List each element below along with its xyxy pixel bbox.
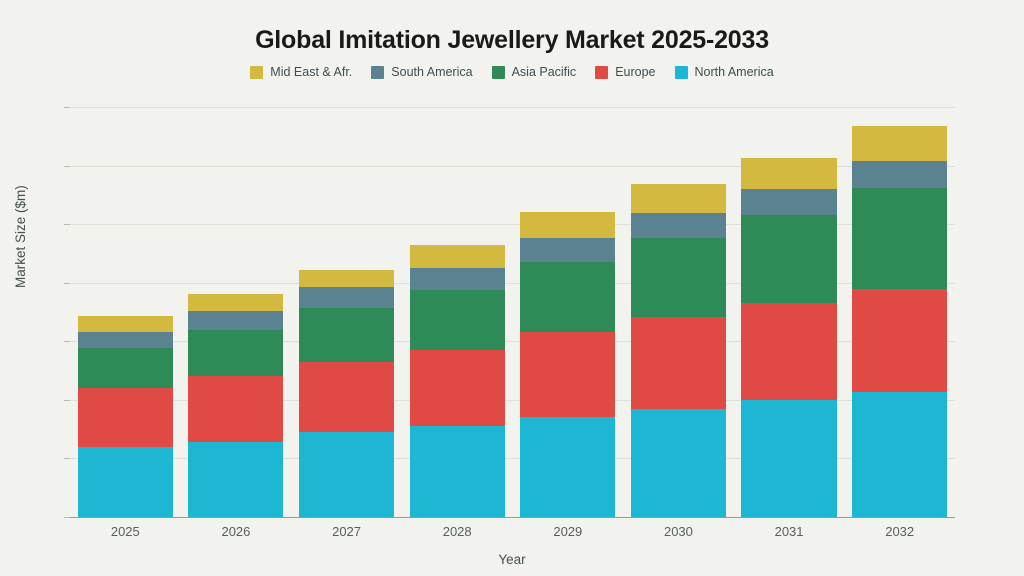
legend-item-south-america[interactable]: South America	[371, 65, 472, 79]
bar-segment-europe[interactable]	[631, 317, 726, 409]
bar-segment-mid-east-afr[interactable]	[299, 270, 394, 286]
bar-group[interactable]	[410, 107, 505, 517]
bar-segment-north-america[interactable]	[741, 400, 836, 517]
bar-segment-north-america[interactable]	[631, 409, 726, 517]
bar-group[interactable]	[520, 107, 615, 517]
bar-segment-south-america[interactable]	[631, 213, 726, 238]
bar-group[interactable]	[299, 107, 394, 517]
chart-title: Global Imitation Jewellery Market 2025-2…	[0, 26, 1024, 55]
bar-segment-mid-east-afr[interactable]	[188, 294, 283, 311]
legend-label-north-america: North America	[695, 65, 774, 79]
bar-group[interactable]	[741, 107, 836, 517]
bar-segment-europe[interactable]	[741, 303, 836, 400]
bar-segment-mid-east-afr[interactable]	[410, 245, 505, 268]
bar-segment-europe[interactable]	[78, 388, 173, 448]
bar-segment-south-america[interactable]	[78, 332, 173, 348]
bar-segment-asia-pacific[interactable]	[631, 238, 726, 318]
bar-segment-mid-east-afr[interactable]	[631, 184, 726, 213]
bars-layer	[70, 107, 955, 517]
bar-segment-south-america[interactable]	[520, 238, 615, 262]
x-tick-label: 2032	[844, 524, 955, 539]
x-tick-label: 2025	[70, 524, 181, 539]
bar-segment-asia-pacific[interactable]	[188, 330, 283, 376]
x-tick-label: 2028	[402, 524, 513, 539]
bar-segment-south-america[interactable]	[299, 287, 394, 308]
bar-segment-europe[interactable]	[410, 350, 505, 427]
y-axis-title: Market Size ($m)	[13, 185, 28, 288]
bar-segment-mid-east-afr[interactable]	[78, 316, 173, 332]
bar-segment-south-america[interactable]	[410, 268, 505, 291]
legend-swatch-europe	[595, 66, 608, 79]
bar-segment-north-america[interactable]	[520, 417, 615, 517]
chart-legend: Mid East & Afr. South America Asia Pacif…	[0, 65, 1024, 79]
bar-segment-asia-pacific[interactable]	[520, 262, 615, 332]
bar-segment-asia-pacific[interactable]	[852, 188, 947, 288]
legend-item-mid-east-afr[interactable]: Mid East & Afr.	[250, 65, 352, 79]
bar-segment-north-america[interactable]	[410, 426, 505, 517]
legend-label-mid-east-afr: Mid East & Afr.	[270, 65, 352, 79]
chart-container: Global Imitation Jewellery Market 2025-2…	[0, 0, 1024, 576]
bar-segment-north-america[interactable]	[188, 442, 283, 517]
bar-segment-asia-pacific[interactable]	[78, 348, 173, 387]
bar-segment-asia-pacific[interactable]	[299, 308, 394, 362]
bar-segment-mid-east-afr[interactable]	[741, 158, 836, 189]
legend-label-south-america: South America	[391, 65, 472, 79]
bar-segment-mid-east-afr[interactable]	[520, 212, 615, 238]
bar-segment-north-america[interactable]	[299, 432, 394, 517]
legend-swatch-south-america	[371, 66, 384, 79]
x-axis-title: Year	[0, 552, 1024, 567]
plot-area	[70, 107, 955, 517]
x-tick-label: 2029	[513, 524, 624, 539]
bar-segment-south-america[interactable]	[741, 189, 836, 215]
legend-item-north-america[interactable]: North America	[675, 65, 774, 79]
x-tick-label: 2031	[734, 524, 845, 539]
bar-segment-south-america[interactable]	[188, 311, 283, 329]
legend-swatch-asia-pacific	[492, 66, 505, 79]
bar-segment-mid-east-afr[interactable]	[852, 126, 947, 161]
bar-segment-south-america[interactable]	[852, 161, 947, 188]
bar-group[interactable]	[852, 107, 947, 517]
bar-segment-europe[interactable]	[852, 289, 947, 392]
legend-item-asia-pacific[interactable]: Asia Pacific	[492, 65, 577, 79]
bar-segment-asia-pacific[interactable]	[741, 215, 836, 303]
bar-segment-europe[interactable]	[520, 332, 615, 418]
bar-segment-asia-pacific[interactable]	[410, 290, 505, 349]
x-tick-label: 2030	[623, 524, 734, 539]
bar-group[interactable]	[78, 107, 173, 517]
x-tick-label: 2026	[181, 524, 292, 539]
bar-group[interactable]	[631, 107, 726, 517]
bar-segment-europe[interactable]	[299, 362, 394, 432]
legend-swatch-mid-east-afr	[250, 66, 263, 79]
bar-segment-north-america[interactable]	[852, 392, 947, 517]
legend-label-asia-pacific: Asia Pacific	[512, 65, 577, 79]
bar-group[interactable]	[188, 107, 283, 517]
x-axis-line	[70, 517, 955, 519]
x-tick-label: 2027	[291, 524, 402, 539]
legend-swatch-north-america	[675, 66, 688, 79]
bar-segment-europe[interactable]	[188, 376, 283, 442]
legend-label-europe: Europe	[615, 65, 655, 79]
bar-segment-north-america[interactable]	[78, 447, 173, 517]
legend-item-europe[interactable]: Europe	[595, 65, 655, 79]
